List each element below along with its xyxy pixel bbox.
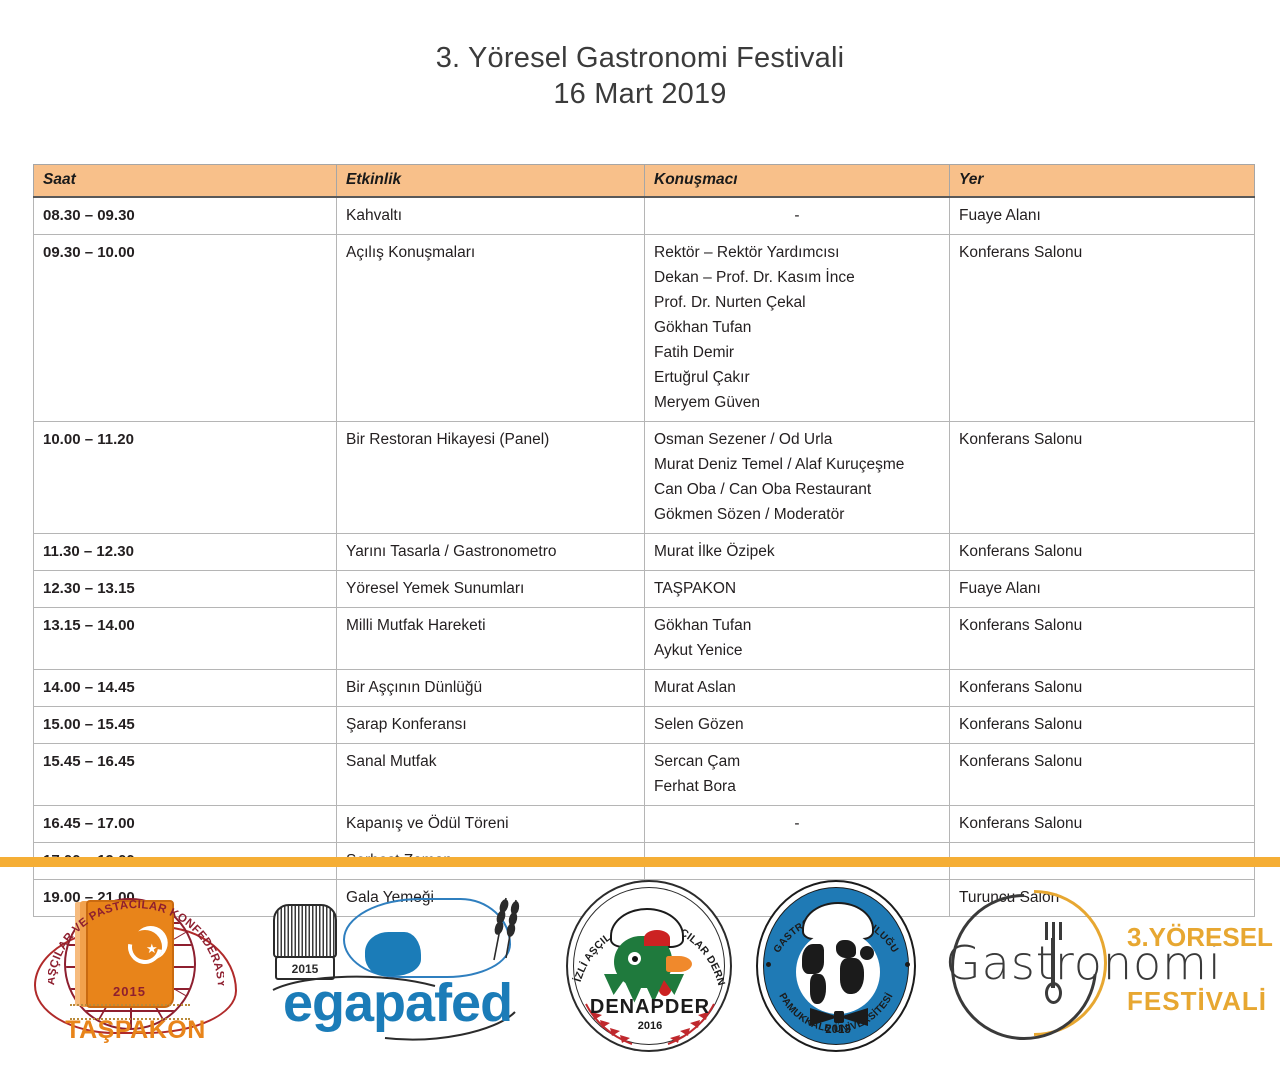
- rooster-beak-icon: [666, 956, 692, 972]
- taspakon-name: TAŞPAKON: [28, 1016, 243, 1045]
- cell-speakers: Sercan ÇamFerhat Bora: [645, 744, 950, 806]
- speaker-line: Aykut Yenice: [654, 638, 940, 663]
- cell-event: Kapanış ve Ödül Töreni: [337, 806, 645, 843]
- speaker-line: Murat Deniz Temel / Alaf Kuruçeşme: [654, 452, 940, 477]
- page-title: 3. Yöresel Gastronomi Festivali 16 Mart …: [0, 40, 1280, 112]
- table-row: 09.30 – 10.00Açılış KonuşmalarıRektör – …: [34, 235, 1255, 422]
- page-title-line-2: 16 Mart 2019: [0, 76, 1280, 112]
- cell-place: Konferans Salonu: [950, 707, 1255, 744]
- schedule-table-container: Saat Etkinlik Konuşmacı Yer 08.30 – 09.3…: [33, 164, 1254, 917]
- cell-speakers: Murat İlke Özipek: [645, 534, 950, 571]
- cell-place: Konferans Salonu: [950, 670, 1255, 707]
- cell-event: Yarını Tasarla / Gastronometro: [337, 534, 645, 571]
- cell-time: 16.45 – 17.00: [34, 806, 337, 843]
- gastronomi-toplulugu-year: 2013: [752, 1024, 924, 1036]
- speaker-line: Ertuğrul Çakır: [654, 365, 940, 390]
- column-header-saat: Saat: [34, 165, 337, 198]
- denapder-name: DENAPDER: [560, 996, 740, 1019]
- speaker-line: TAŞPAKON: [654, 576, 940, 601]
- speaker-line: Gökhan Tufan: [654, 613, 940, 638]
- cell-time: 09.30 – 10.00: [34, 235, 337, 422]
- cell-speakers: -: [645, 197, 950, 235]
- chef-hat-icon: 2015: [273, 904, 337, 982]
- denizli-region-icon: [365, 932, 421, 976]
- fork-spoon-icon: [1041, 922, 1067, 1006]
- cell-event: Bir Restoran Hikayesi (Panel): [337, 422, 645, 534]
- cell-time: 15.00 – 15.45: [34, 707, 337, 744]
- denapder-logo: DENİZLİ AŞÇILAR VE PASTACILAR DERNEĞİ DE…: [560, 878, 740, 1056]
- cell-speakers: Selen Gözen: [645, 707, 950, 744]
- sponsor-logo-strip: ★ TÜM AŞÇILAR VE PASTACILAR KONFEDERASYO…: [0, 872, 1280, 1062]
- table-row: 13.15 – 14.00Milli Mutfak HareketiGökhan…: [34, 608, 1255, 670]
- cell-time: 08.30 – 09.30: [34, 197, 337, 235]
- speaker-line: Gökmen Sözen / Moderatör: [654, 502, 940, 527]
- cell-speakers: Rektör – Rektör YardımcısıDekan – Prof. …: [645, 235, 950, 422]
- globe-icon: [796, 930, 880, 1014]
- cell-time: 10.00 – 11.20: [34, 422, 337, 534]
- festival-subtitle-label: FESTİVALİ: [1127, 986, 1267, 1017]
- cell-event: Açılış Konuşmaları: [337, 235, 645, 422]
- table-row: 08.30 – 09.30Kahvaltı-Fuaye Alanı: [34, 197, 1255, 235]
- wheat-icon: [480, 890, 524, 962]
- table-row: 15.45 – 16.45Sanal MutfakSercan ÇamFerha…: [34, 744, 1255, 806]
- cell-event: Şarap Konferansı: [337, 707, 645, 744]
- egapafed-wordmark: egapafed: [283, 976, 518, 1030]
- speaker-line: Ferhat Bora: [654, 774, 940, 799]
- speaker-line: Gökhan Tufan: [654, 315, 940, 340]
- taspakon-year: 2015: [28, 984, 231, 999]
- cell-speakers: -: [645, 806, 950, 843]
- crescent-icon: [121, 923, 168, 970]
- orange-divider: [0, 857, 1280, 867]
- cell-place: Konferans Salonu: [950, 806, 1255, 843]
- cell-event: Bir Aşçının Dünlüğü: [337, 670, 645, 707]
- column-header-konusmaci: Konuşmacı: [645, 165, 950, 198]
- speaker-line: Can Oba / Can Oba Restaurant: [654, 477, 940, 502]
- speaker-line: Prof. Dr. Nurten Çekal: [654, 290, 940, 315]
- speaker-line: Murat Aslan: [654, 675, 940, 700]
- table-row: 14.00 – 14.45Bir Aşçının DünlüğüMurat As…: [34, 670, 1255, 707]
- cell-place: Konferans Salonu: [950, 744, 1255, 806]
- speaker-line: -: [654, 811, 940, 836]
- speaker-line: Murat İlke Özipek: [654, 539, 940, 564]
- festival-logo: Gastronomi 3.YÖRESEL FESTİVALİ: [945, 888, 1265, 1048]
- cell-place: Fuaye Alanı: [950, 571, 1255, 608]
- table-row: 12.30 – 13.15Yöresel Yemek SunumlarıTAŞP…: [34, 571, 1255, 608]
- gastronomi-toplulugu-logo: GASTRONOMİ TOPLULUĞU PAMUKKALE ÜNİVERSİT…: [752, 878, 924, 1056]
- schedule-table: Saat Etkinlik Konuşmacı Yer 08.30 – 09.3…: [33, 164, 1255, 917]
- cell-event: Yöresel Yemek Sunumları: [337, 571, 645, 608]
- cell-event: Milli Mutfak Hareketi: [337, 608, 645, 670]
- cell-speakers: Osman Sezener / Od UrlaMurat Deniz Temel…: [645, 422, 950, 534]
- denapder-year: 2016: [560, 1020, 740, 1032]
- table-row: 15.00 – 15.45Şarap KonferansıSelen Gözen…: [34, 707, 1255, 744]
- star-icon: ★: [146, 942, 158, 955]
- cell-place: Konferans Salonu: [950, 235, 1255, 422]
- cell-event: Kahvaltı: [337, 197, 645, 235]
- speaker-line: Fatih Demir: [654, 340, 940, 365]
- egapafed-logo: 2015 egapafed: [265, 892, 520, 1047]
- cell-speakers: Gökhan TufanAykut Yenice: [645, 608, 950, 670]
- cell-time: 13.15 – 14.00: [34, 608, 337, 670]
- schedule-table-body: 08.30 – 09.30Kahvaltı-Fuaye Alanı09.30 –…: [34, 197, 1255, 917]
- cell-place: Konferans Salonu: [950, 534, 1255, 571]
- cell-speakers: TAŞPAKON: [645, 571, 950, 608]
- cell-time: 12.30 – 13.15: [34, 571, 337, 608]
- table-header-row: Saat Etkinlik Konuşmacı Yer: [34, 165, 1255, 198]
- speaker-line: Dekan – Prof. Dr. Kasım İnce: [654, 265, 940, 290]
- column-header-etkinlik: Etkinlik: [337, 165, 645, 198]
- taspakon-logo: ★ TÜM AŞÇILAR VE PASTACILAR KONFEDERASYO…: [28, 884, 243, 1054]
- cell-time: 14.00 – 14.45: [34, 670, 337, 707]
- table-row: 10.00 – 11.20Bir Restoran Hikayesi (Pane…: [34, 422, 1255, 534]
- speaker-line: Rektör – Rektör Yardımcısı: [654, 240, 940, 265]
- cell-speakers: Murat Aslan: [645, 670, 950, 707]
- speaker-line: -: [654, 203, 940, 228]
- cell-time: 11.30 – 12.30: [34, 534, 337, 571]
- column-header-yer: Yer: [950, 165, 1255, 198]
- speaker-line: Meryem Güven: [654, 390, 940, 415]
- cell-place: Konferans Salonu: [950, 608, 1255, 670]
- cell-place: Fuaye Alanı: [950, 197, 1255, 235]
- festival-edition-label: 3.YÖRESEL: [1127, 922, 1273, 953]
- table-row: 11.30 – 12.30Yarını Tasarla / Gastronome…: [34, 534, 1255, 571]
- table-row: 16.45 – 17.00Kapanış ve Ödül Töreni-Konf…: [34, 806, 1255, 843]
- cell-time: 15.45 – 16.45: [34, 744, 337, 806]
- cell-event: Sanal Mutfak: [337, 744, 645, 806]
- cell-place: Konferans Salonu: [950, 422, 1255, 534]
- speaker-line: Osman Sezener / Od Urla: [654, 427, 940, 452]
- speaker-line: Selen Gözen: [654, 712, 940, 737]
- speaker-line: Sercan Çam: [654, 749, 940, 774]
- rooster-comb-icon: [644, 930, 670, 946]
- rooster-pupil-icon: [632, 956, 638, 962]
- page-title-line-1: 3. Yöresel Gastronomi Festivali: [0, 40, 1280, 76]
